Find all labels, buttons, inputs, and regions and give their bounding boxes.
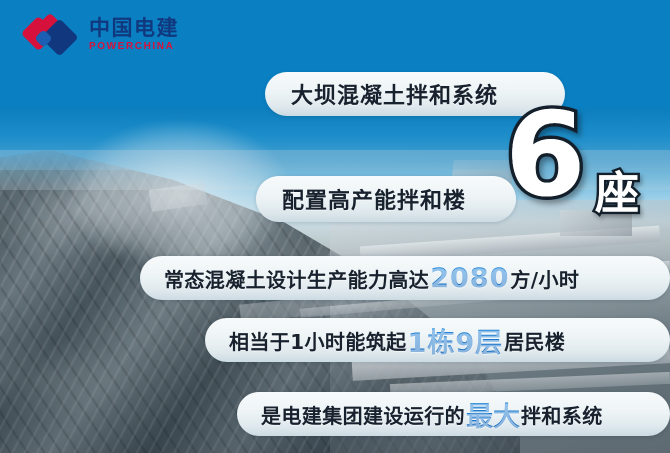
statement-suffix-4: 居民楼 (504, 326, 565, 355)
logo-wordmark: 中国电建 POWERCHINA (89, 18, 179, 52)
statement-prefix-5: 是电建集团建设运行的 (261, 400, 465, 429)
big-figure-value: 6 (505, 98, 584, 214)
statement-pill-2: 配置高产能拌和楼 (256, 176, 516, 222)
big-figure-unit: 座 (595, 172, 639, 216)
statement-suffix-3: 方/小时 (510, 264, 579, 293)
statement-prefix-4: 相当于1小时能筑起 (229, 326, 407, 355)
logo-name-cn: 中国电建 (89, 18, 179, 39)
powerchina-diamond-logo-icon (24, 14, 80, 56)
powerchina-logo: 中国电建 POWERCHINA (24, 14, 179, 56)
statement-pill-3: 常态混凝土设计生产能力高达 2080 方/小时 (140, 256, 670, 300)
statement-pill-5: 是电建集团建设运行的 最大 拌和系统 (237, 392, 670, 436)
statement-suffix-5: 拌和系统 (521, 400, 603, 429)
statement-highlight-3: 2080 (429, 263, 510, 294)
logo-name-en: POWERCHINA (89, 42, 179, 52)
statement-highlight-4: 1栋9层 (407, 321, 505, 360)
statement-highlight-5: 最大 (465, 395, 521, 434)
statement-text-1: 大坝混凝土拌和系统 (291, 78, 498, 110)
background-vignette (0, 0, 670, 453)
infographic-poster: 中国电建 POWERCHINA 6 6 座 座 大坝混凝土拌和系统 配置高产能拌… (0, 0, 670, 453)
statement-pill-4: 相当于1小时能筑起 1栋9层 居民楼 (205, 318, 670, 362)
statement-text-2: 配置高产能拌和楼 (282, 183, 466, 215)
statement-prefix-3: 常态混凝土设计生产能力高达 (164, 264, 429, 293)
